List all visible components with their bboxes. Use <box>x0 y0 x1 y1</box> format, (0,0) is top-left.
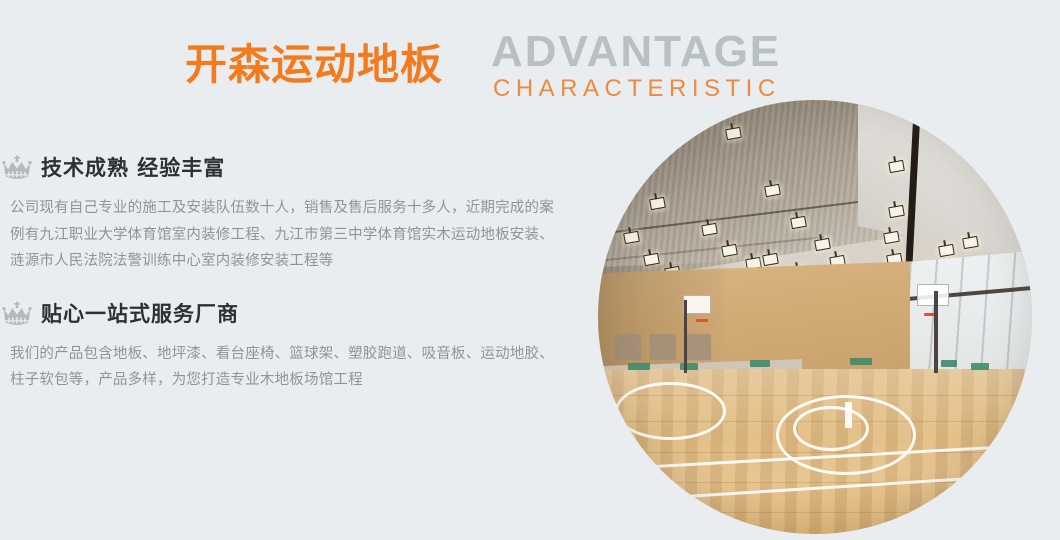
advantage-heading-1: 技术成熟 经验丰富 <box>0 155 575 181</box>
advantage-title-1: 技术成熟 经验丰富 <box>41 155 225 181</box>
ceiling-lamp <box>701 222 718 235</box>
page-title-cn: 开森运动地板 <box>185 42 443 88</box>
advantage-body-1: 公司现有自己专业的施工及安装队伍数十人，销售及售后服务十多人，近期完成的案例有九… <box>0 195 558 275</box>
court-inner-circle <box>793 406 868 451</box>
court-bench <box>941 360 957 367</box>
basketball-hoop-pole <box>934 291 938 373</box>
ceiling-lamp <box>649 196 666 209</box>
court-key-arc <box>615 382 725 440</box>
floor-plank-seam <box>598 512 1032 513</box>
crown-icon <box>2 301 32 327</box>
advantage-body-2: 我们的产品包含地板、地坪漆、看台座椅、篮球架、塑胶跑道、吸音板、运动地胶、柱子软… <box>0 341 558 394</box>
advantage-heading-2: 贴心一站式服务厂商 <box>0 301 575 327</box>
ceiling-lamp <box>888 160 905 173</box>
ceiling-lamp <box>884 231 901 244</box>
court-hash-mark <box>845 402 852 428</box>
page-title-en-main: ADVANTAGE <box>491 28 781 76</box>
court-bench <box>850 358 872 365</box>
advantage-block-1: 技术成熟 经验丰富 公司现有自己专业的施工及安装队伍数十人，销售及售后服务十多人… <box>0 155 575 275</box>
gymnasium-scene <box>598 100 1032 534</box>
basketball-hoop-pole <box>684 300 687 374</box>
advantage-section: 开森运动地板 ADVANTAGE CHARACTERISTIC <box>0 0 1060 540</box>
ceiling-lamp <box>764 183 781 196</box>
advantage-block-2: 贴心一站式服务厂商 我们的产品包含地板、地坪漆、看台座椅、篮球架、塑胶跑道、吸音… <box>0 301 575 394</box>
court-bench <box>971 363 989 370</box>
court-bench <box>750 360 770 367</box>
doorway <box>615 334 641 360</box>
court-bench <box>628 363 650 370</box>
page-title-en: ADVANTAGE CHARACTERISTIC <box>491 28 781 104</box>
advantage-list: 技术成熟 经验丰富 公司现有自己专业的施工及安装队伍数十人，销售及售后服务十多人… <box>0 155 575 420</box>
floor-plank-seam <box>598 482 1032 483</box>
page-title-en-sub: CHARACTERISTIC <box>493 74 781 104</box>
doorway <box>685 334 711 360</box>
crown-icon <box>2 155 32 181</box>
ceiling-lamp <box>938 244 955 257</box>
basketball-backboard <box>917 284 949 306</box>
doorway <box>650 334 676 360</box>
ceiling-lamp <box>762 253 779 266</box>
ceiling-lamp <box>814 238 831 251</box>
ceiling-lamp <box>962 235 979 248</box>
basketball-rim <box>696 319 708 322</box>
gymnasium-photo <box>598 100 1032 534</box>
advantage-title-2: 贴心一站式服务厂商 <box>41 301 239 327</box>
